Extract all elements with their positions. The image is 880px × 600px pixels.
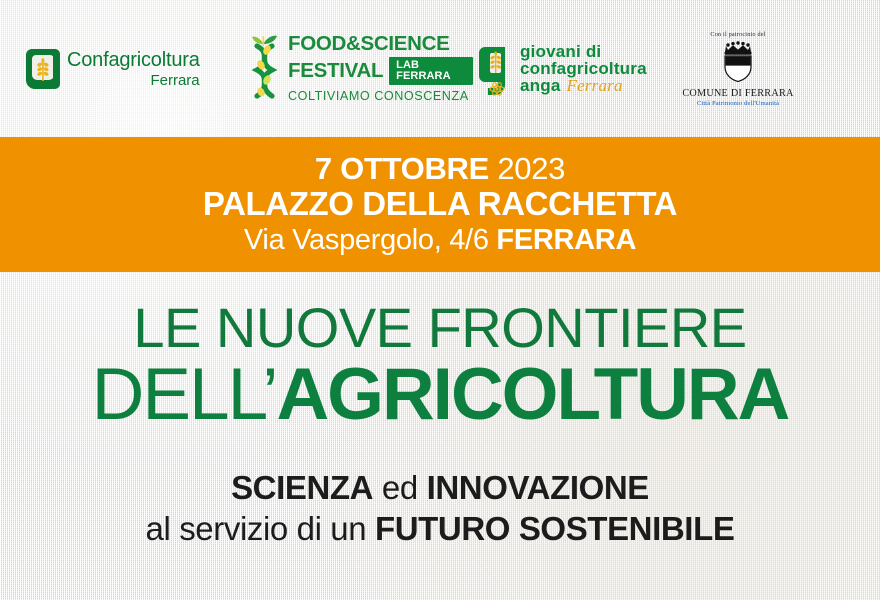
logo-food-science-festival: FOOD&SCIENCE FESTIVAL LAB FERRARA COLTIV… [248,34,473,104]
subhead-al-servizio: al servizio di un [146,510,367,547]
poster-subhead: SCIENZA ed INNOVAZIONE al servizio di un… [0,470,880,548]
logo-anga-giovani: giovani di confagricoltura anga Ferrara [479,41,679,97]
subhead-line2: al servizio di un FUTURO SOSTENIBILE [0,511,880,547]
anga-city: Ferrara [566,77,622,94]
headline-line2-heavy: AGRICOLTURA [276,354,788,435]
subhead-scienza: SCIENZA [231,469,373,506]
fsf-tagline: COLTIVIAMO CONOSCENZA [288,90,473,103]
logo-confagricoltura: Confagricoltura Ferrara [26,49,246,89]
comune-subtitle: Città Patrimonio dell'Umanità [673,100,803,107]
wheat-in-letter-g-icon [479,41,515,97]
event-poster: Confagricoltura Ferrara FOOD&SCI [0,0,880,600]
banner-date-year: 2023 [497,151,565,186]
comune-name: COMUNE DI FERRARA [673,88,803,99]
logo-comune-di-ferrara: Con il patrocinio del COMUNE DI FERRARA … [673,31,803,107]
fsf-line1: FOOD&SCIENCE [288,34,473,55]
patronage-label: Con il patrocinio del [673,31,803,38]
banner-venue: PALAZZO DELLA RACCHETTA [203,187,677,222]
headline-line2: DELL’AGRICOLTURA [0,358,880,431]
anga-line2: confagricoltura [520,60,647,77]
banner-address-city: FERRARA [496,224,636,256]
banner-address-street: Via Vaspergolo, 4/6 [244,224,489,256]
subhead-line1: SCIENZA ed INNOVAZIONE [0,470,880,506]
subhead-futuro-sostenibile: FUTURO SOSTENIBILE [375,510,734,547]
fsf-lab-badge: LAB FERRARA [389,57,473,85]
ferrara-coat-of-arms-icon [712,40,764,82]
wheat-in-letter-a-icon [26,49,60,89]
headline-line2-light: DELL’ [92,354,277,435]
banner-date-day: 7 OTTOBRE [315,151,489,186]
banner-date-line: 7 OTTOBRE 2023 [315,153,565,185]
poster-headline: LE NUOVE FRONTIERE DELL’AGRICOLTURA [0,300,880,431]
anga-line3: anga [520,77,560,94]
fsf-line2: FESTIVAL [288,61,383,82]
anga-line1: giovani di [520,43,647,60]
banner-address-line: Via Vaspergolo, 4/6 FERRARA [244,225,636,256]
event-date-banner: 7 OTTOBRE 2023 PALAZZO DELLA RACCHETTA V… [0,137,880,272]
confagricoltura-city: Ferrara [67,73,200,88]
subhead-ed: ed [382,469,418,506]
wheat-ear-icon [37,58,50,82]
dna-helix-wheat-icon [248,34,280,104]
sponsor-logo-strip: Confagricoltura Ferrara FOOD&SCI [0,0,880,137]
headline-line1: LE NUOVE FRONTIERE [0,300,880,356]
confagricoltura-name: Confagricoltura [67,50,200,70]
subhead-innovazione: INNOVAZIONE [427,469,649,506]
